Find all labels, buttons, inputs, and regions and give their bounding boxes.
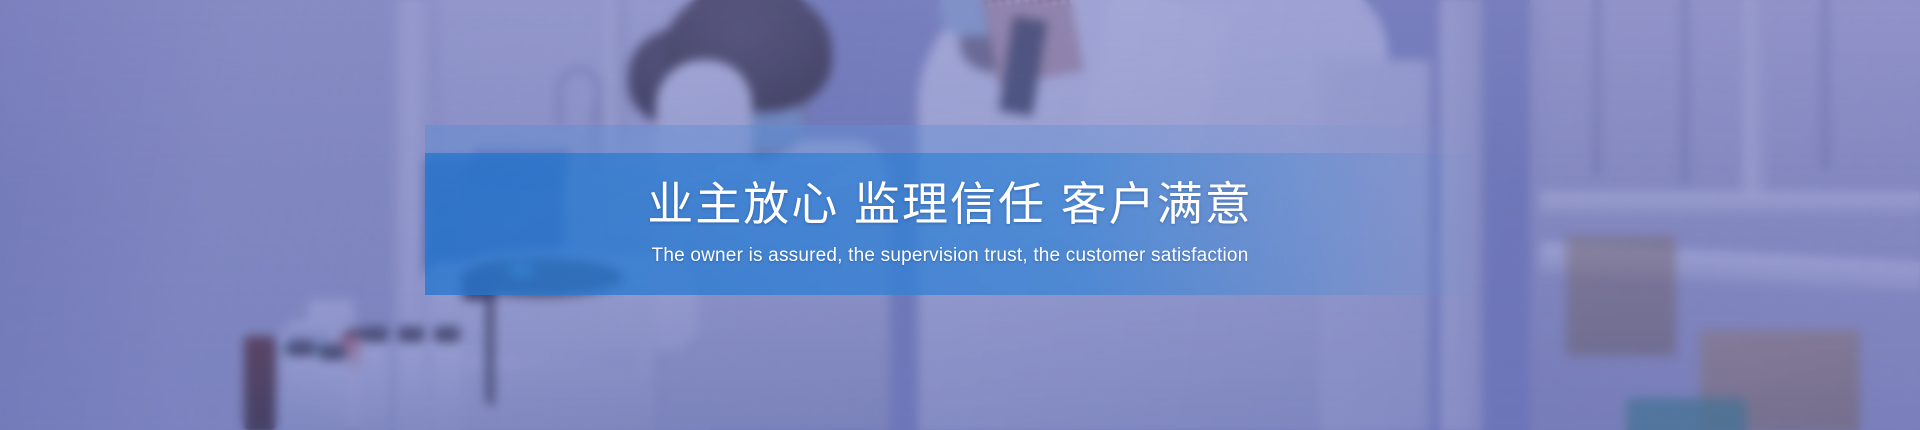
banner-headline: 业主放心 监理信任 客户满意: [647, 179, 1253, 231]
banner-subheadline: The owner is assured, the supervision tr…: [652, 244, 1249, 269]
caption-band: 业主放心 监理信任 客户满意 The owner is assured, the…: [425, 125, 1475, 295]
hero-banner: 业主放心 监理信任 客户满意 The owner is assured, the…: [0, 0, 1920, 430]
caption-text-group: 业主放心 监理信任 客户满意 The owner is assured, the…: [425, 153, 1475, 295]
caption-band-top-edge: [425, 125, 1475, 153]
